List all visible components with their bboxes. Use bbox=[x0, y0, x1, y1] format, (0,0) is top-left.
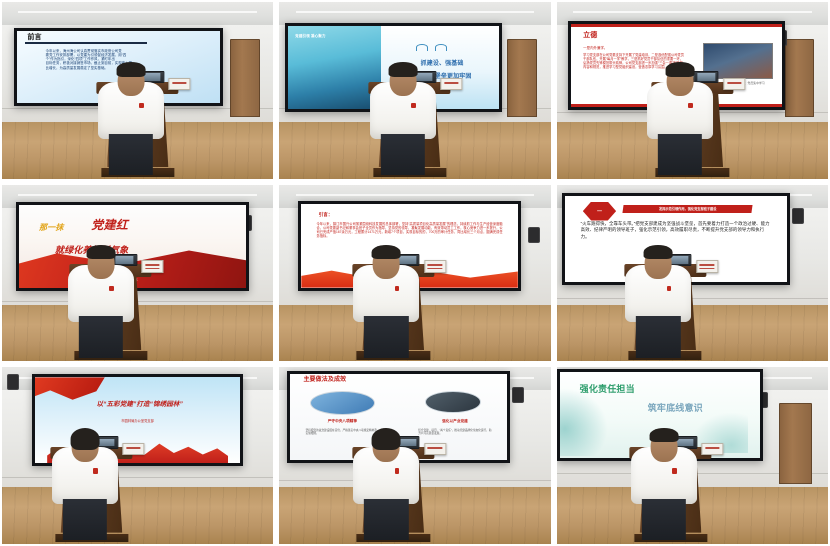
nameplate bbox=[723, 78, 745, 90]
section-banner: 发挥示范引领作用，强化党支部班子建设 bbox=[622, 205, 752, 213]
party-badge-icon bbox=[139, 103, 144, 108]
slide-subtitle: 市园林局办公室党支部 bbox=[76, 419, 199, 423]
presenter-hair bbox=[666, 62, 695, 76]
photo-thumbnail-3[interactable]: 立德 一是内外兼学。 学习党支部在公司党委支持下开展了党建培训，二是选优配强公司… bbox=[557, 2, 828, 179]
photo-grid: 前言 今年以来，海州海公司认真贯彻落实市政府公司党 委党工作安排部署，以党建为引… bbox=[0, 0, 830, 546]
bamboo-ink-decoration bbox=[560, 388, 608, 457]
presenter-6 bbox=[633, 248, 685, 358]
nameplate bbox=[440, 78, 462, 90]
ceiling bbox=[2, 2, 273, 27]
conference-room-scene: 强化责任担当 筑牢底线意识 bbox=[557, 367, 828, 544]
wall-trim-line bbox=[2, 477, 273, 478]
presenter-hair bbox=[388, 62, 417, 76]
party-badge-icon bbox=[667, 286, 672, 291]
nameplate bbox=[701, 443, 723, 455]
section-number-label: 一 bbox=[597, 208, 602, 215]
party-badge-icon bbox=[672, 468, 677, 473]
presenter-1 bbox=[105, 66, 157, 176]
slide-corner-text: 党建引领 凝心聚力 bbox=[295, 34, 325, 38]
slide-body: “火车跑得快，全靠车头带。”把党支部建成为坚强战斗堡垒，首先要着力打造一个政治过… bbox=[581, 221, 772, 241]
conference-room-scene: 引言： 今年以来，镇江市国兴公司紧紧围绕科技发展的总体部署，坚持“高质量项目化高… bbox=[279, 185, 550, 362]
section-number-badge: 一 bbox=[583, 202, 616, 221]
conference-room-scene: 以“五彩党建”打造“锦绣园林” 市园林局办公室党支部 bbox=[2, 367, 273, 544]
presenter-7 bbox=[59, 431, 111, 541]
red-flag-decoration bbox=[35, 377, 105, 399]
nameplate bbox=[424, 260, 446, 272]
slide-bullet-1: 一是内外兼学。 bbox=[583, 46, 607, 50]
presenter-2 bbox=[377, 66, 429, 176]
photo-thumbnail-1[interactable]: 前言 今年以来，海州海公司认真贯彻落实市政府公司党 委党工作安排部署，以党建为引… bbox=[2, 2, 273, 179]
door bbox=[230, 39, 260, 117]
section-banner-label: 发挥示范引领作用，强化党支部班子建设 bbox=[658, 206, 715, 211]
slide-body: 今年以来，镇江市国兴公司紧紧围绕科技发展的总体部署，坚持“高质量项目化高质量发展… bbox=[316, 222, 502, 238]
card-image-1 bbox=[310, 391, 375, 415]
photo-thumbnail-2[interactable]: 党建引领 凝心聚力 抓建设、强基础 组织战斗堡垒更加牢固 bbox=[279, 2, 550, 179]
slide-title: 立德 bbox=[583, 32, 597, 41]
conference-room-scene: 主要做法及成效 严守中央八项精神 坚持把党的政治建设摆在首位，严格落实中央八项规… bbox=[279, 367, 550, 544]
party-badge-icon bbox=[688, 103, 693, 108]
presenter-legs bbox=[109, 134, 153, 176]
slide-title: 引言： bbox=[319, 212, 333, 218]
slide-title-rule bbox=[25, 42, 147, 44]
party-badge-icon bbox=[109, 286, 114, 291]
presenter-hair bbox=[372, 428, 401, 450]
slide-headline-line1: 强化责任担当 bbox=[580, 384, 635, 395]
conference-room-scene: 前言 今年以来，海州海公司认真贯彻落实市政府公司党 委党工作安排部署，以党建为引… bbox=[2, 2, 273, 179]
presenter-hair bbox=[70, 428, 99, 450]
nameplate bbox=[424, 443, 446, 455]
card-heading-1: 严守中央八项精神 bbox=[303, 419, 381, 423]
nameplate bbox=[168, 78, 190, 90]
party-badge-icon bbox=[395, 286, 400, 291]
photo-thumbnail-8[interactable]: 主要做法及成效 严守中央八项精神 坚持把党的政治建设摆在首位，严格落实中央八项规… bbox=[279, 367, 550, 544]
slide-mountain-photo: 党建引领 凝心聚力 bbox=[288, 26, 381, 108]
door bbox=[785, 39, 815, 117]
card-image-2 bbox=[425, 391, 481, 413]
presenter-legs bbox=[364, 316, 408, 358]
party-badge-icon bbox=[411, 103, 416, 108]
door bbox=[779, 403, 812, 484]
arc-decoration-icon bbox=[416, 44, 428, 51]
nameplate bbox=[696, 260, 718, 272]
photo-thumbnail-5[interactable]: 引言： 今年以来，镇江市国兴公司紧紧围绕科技发展的总体部署，坚持“高质量项目化高… bbox=[279, 185, 550, 362]
nameplate bbox=[122, 443, 144, 455]
conference-room-scene: 立德 一是内外兼学。 学习党支部在公司党委支持下开展了党建培训，二是选优配强公司… bbox=[557, 2, 828, 179]
wall-speaker-icon bbox=[792, 208, 803, 224]
card-heading-2: 强化以产业党建 bbox=[416, 419, 494, 423]
presenter-hair bbox=[644, 245, 673, 259]
presenter-legs bbox=[636, 316, 680, 358]
photo-thumbnail-4[interactable]: 那一抹 党建红 就绿化养护新气象 市园林局绿化养护中心党支部 bbox=[2, 185, 273, 362]
presenter-3 bbox=[654, 66, 706, 176]
photo-thumbnail-9[interactable]: 强化责任担当 筑牢底线意识 bbox=[557, 367, 828, 544]
party-badge-icon bbox=[395, 468, 400, 473]
slide-headline-highlight: 党建红 bbox=[91, 218, 128, 233]
presenter-5 bbox=[361, 248, 413, 358]
presenter-hair bbox=[116, 62, 145, 76]
presenter-legs bbox=[381, 134, 425, 176]
slide-headline: 以“五彩党建”打造“锦绣园林” bbox=[55, 401, 224, 409]
card-body-2: 结合党建、项目、“两个责任”，推动党建品牌化常态化运行，助力公司高质量发展。 bbox=[418, 429, 492, 435]
presenter-4 bbox=[75, 248, 127, 358]
door bbox=[507, 39, 537, 117]
wall-speaker-icon bbox=[528, 227, 539, 243]
party-badge-icon bbox=[93, 468, 98, 473]
conference-room-scene: 一 发挥示范引领作用，强化党支部班子建设 “火车跑得快，全靠车头带。”把党支部建… bbox=[557, 185, 828, 362]
slide-title: 主要做法及成效 bbox=[303, 377, 346, 385]
presenter-legs bbox=[364, 499, 408, 541]
floor bbox=[2, 487, 273, 544]
presenter-hair bbox=[372, 245, 401, 259]
photo-thumbnail-6[interactable]: 一 发挥示范引领作用，强化党支部班子建设 “火车跑得快，全靠车头带。”把党支部建… bbox=[557, 185, 828, 362]
presenter-8 bbox=[361, 431, 413, 541]
photo-thumbnail-7[interactable]: 以“五彩党建”打造“锦绣园林” 市园林局办公室党支部 bbox=[2, 367, 273, 544]
wall-speaker-icon bbox=[512, 387, 523, 403]
presenter-9 bbox=[638, 431, 690, 541]
presenter-legs bbox=[658, 134, 702, 176]
presenter-legs bbox=[63, 499, 107, 541]
arc-decoration-icon bbox=[435, 44, 447, 51]
presenter-hair bbox=[649, 428, 678, 442]
presenter-legs bbox=[79, 316, 123, 358]
presenter-hair bbox=[87, 245, 116, 259]
wall-speaker-icon bbox=[7, 374, 18, 390]
conference-room-scene: 那一抹 党建红 就绿化养护新气象 市园林局绿化养护中心党支部 bbox=[2, 185, 273, 362]
nameplate bbox=[141, 260, 163, 272]
slide-headline-part1: 那一抹 bbox=[39, 223, 63, 233]
conference-room-scene: 党建引领 凝心聚力 抓建设、强基础 组织战斗堡垒更加牢固 bbox=[279, 2, 550, 179]
slide-headline-line2: 筑牢底线意识 bbox=[648, 403, 703, 414]
presenter-legs bbox=[642, 499, 686, 541]
